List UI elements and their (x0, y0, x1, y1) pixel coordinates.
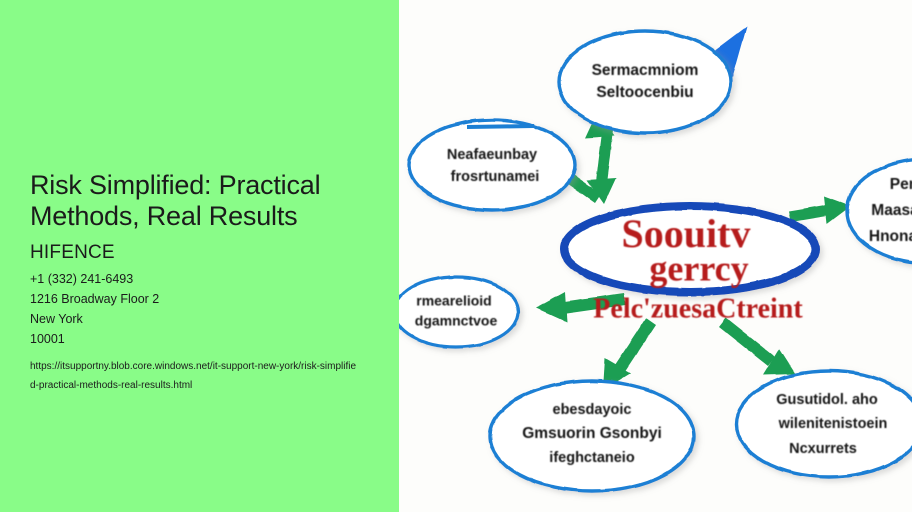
node-bottom-right-label-line1: Gusutidol. aho (776, 392, 878, 408)
city-name: New York (30, 309, 380, 329)
arrow-center-to-bottom-right (719, 318, 795, 375)
node-top[interactable] (559, 31, 731, 133)
node-bottom-left-label-line3: ifeghctaneio (549, 450, 635, 466)
node-top-ellipse (559, 31, 731, 133)
node-right-label-line2: Maasa (871, 202, 912, 219)
page-title: Risk Simplified: Practical Methods, Real… (30, 170, 380, 232)
node-top-label-line2: Seltoocenbiu (596, 84, 693, 101)
arrow-center-to-bottom-left (603, 318, 656, 390)
node-top-label-line1: Sermacmniom (592, 62, 699, 79)
node-bottom-right-label-line3: Ncxurrets (789, 441, 857, 457)
center-node-label-line2: gerrcy (649, 248, 748, 288)
node-left-label-line1: rmearelioid (416, 293, 491, 309)
address-line: 1216 Broadway Floor 2 (30, 289, 380, 309)
node-upper-left-label-line1: Neafaeunbay (447, 147, 537, 163)
zip-code: 10001 (30, 329, 380, 349)
node-right-label-line3: Hnona (869, 228, 912, 245)
node-left-label-line2: dgamnctvoe (415, 313, 498, 329)
contact-info-block: Risk Simplified: Practical Methods, Real… (30, 170, 380, 395)
mindmap-svg: Sermacmniom Seltoocenbiu Neafaeunbay fro… (399, 0, 912, 512)
center-subtitle: Pelc'zuesaCtreint (593, 293, 803, 324)
node-upper-left[interactable] (409, 120, 575, 210)
phone-number: +1 (332) 241-6493 (30, 269, 380, 289)
node-bottom-right-label-line2: wilenitenistoein (778, 416, 888, 432)
source-url[interactable]: https://itsupportny.blob.core.windows.ne… (30, 357, 360, 395)
page-root: Risk Simplified: Practical Methods, Real… (0, 0, 912, 512)
mindmap-diagram-panel: Sermacmniom Seltoocenbiu Neafaeunbay fro… (399, 0, 912, 512)
node-upper-left-ellipse (409, 120, 575, 210)
company-name: HIFENCE (30, 241, 380, 265)
node-bottom-left-label-line2: Gmsuorin Gsonbyi (522, 425, 662, 442)
node-right-label-line1: Pen (890, 176, 912, 193)
arrow-center-to-right (789, 196, 851, 224)
node-upper-left-underline (467, 126, 534, 127)
node-upper-left-label-line2: frosrtunamei (451, 169, 540, 185)
node-bottom-left-label-line1: ebesdayoic (553, 402, 632, 418)
left-info-panel: Risk Simplified: Practical Methods, Real… (0, 0, 399, 512)
